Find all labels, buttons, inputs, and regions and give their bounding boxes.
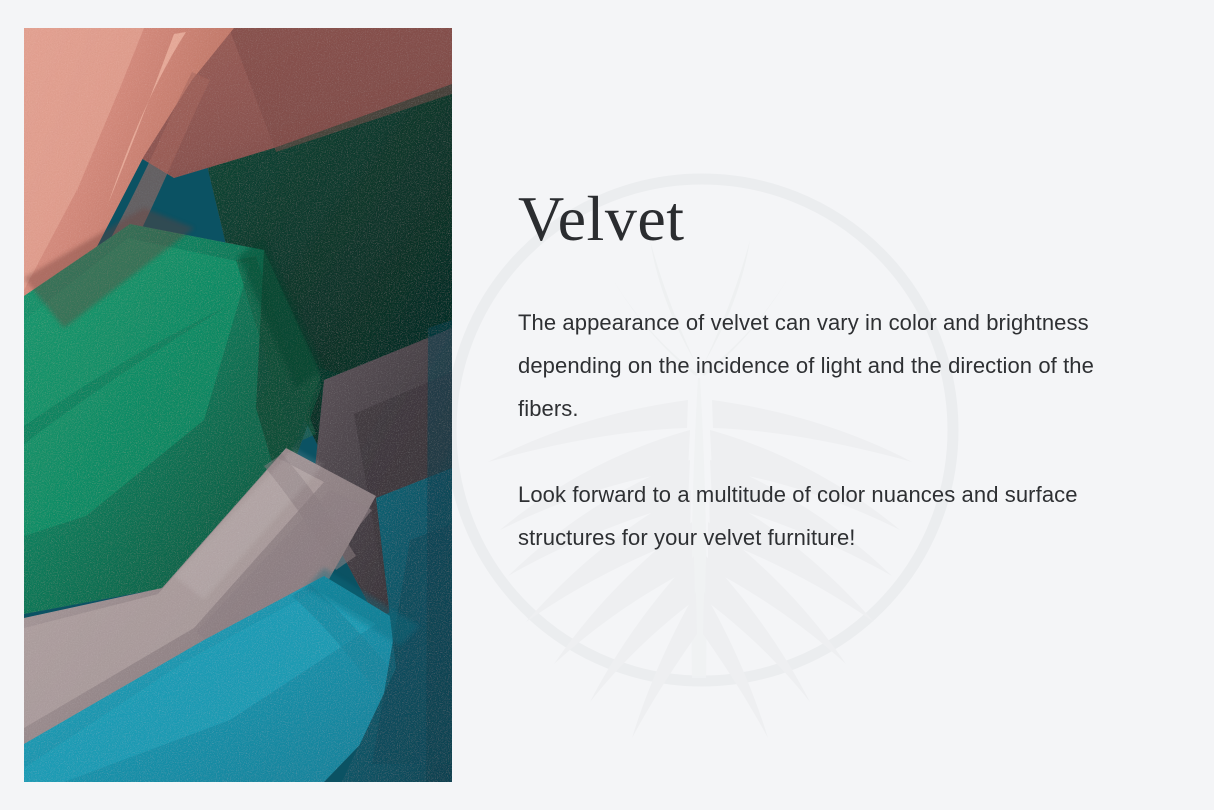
velvet-fabric-swatches-photo (24, 28, 452, 782)
page-root: Velvet The appearance of velvet can vary… (0, 0, 1214, 810)
description-paragraph-1: The appearance of velvet can vary in col… (518, 301, 1128, 430)
text-content: Velvet The appearance of velvet can vary… (518, 186, 1128, 559)
description-paragraph-2: Look forward to a multitude of color nua… (518, 473, 1128, 559)
page-title: Velvet (518, 186, 1128, 251)
